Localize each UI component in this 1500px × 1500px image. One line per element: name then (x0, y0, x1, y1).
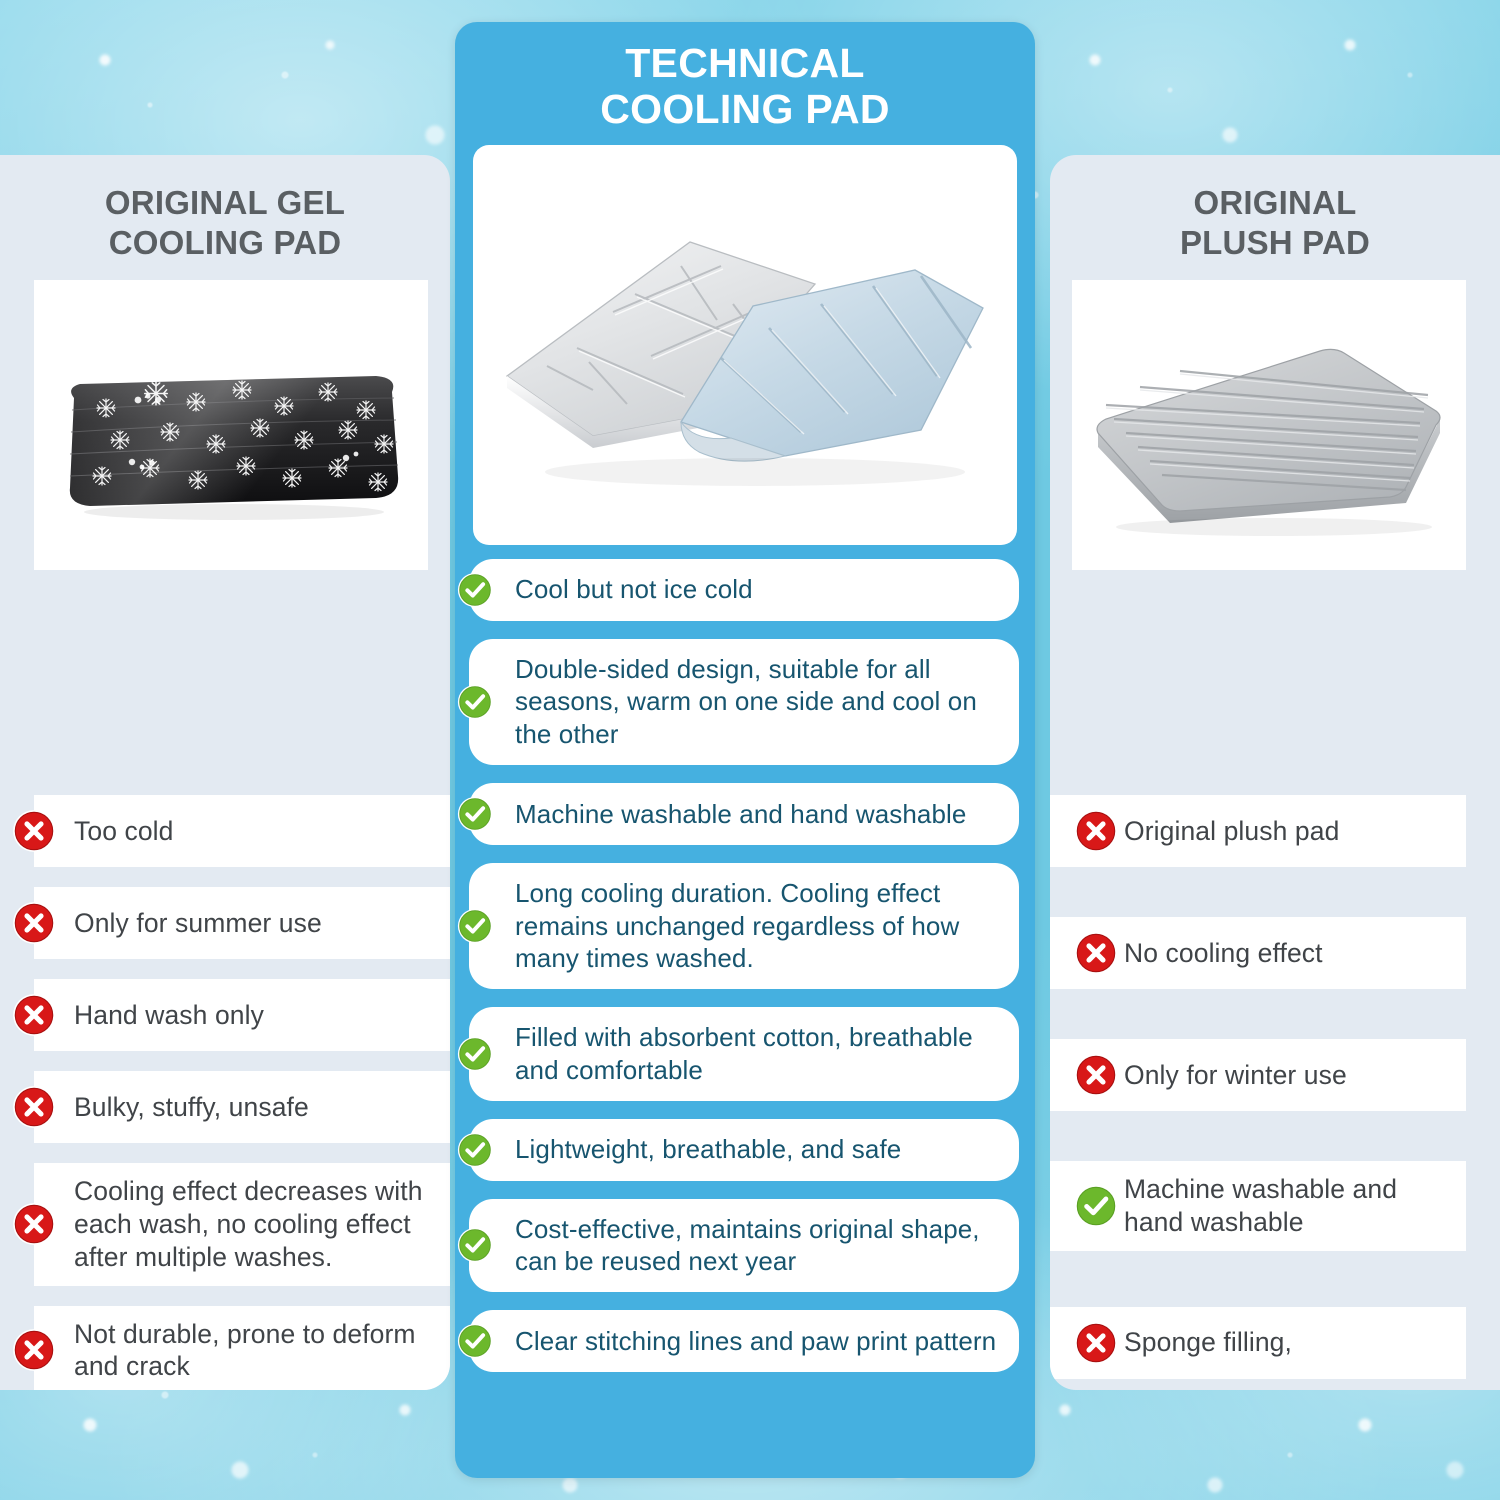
list-item[interactable]: Machine washable and hand washable (1050, 1161, 1466, 1251)
check-circle-icon (457, 1227, 493, 1263)
check-circle-icon (457, 1227, 493, 1263)
check-circle-icon (457, 908, 493, 944)
check-circle-icon (457, 796, 493, 832)
list-item-label: Cooling effect decreases with each wash,… (74, 1175, 432, 1274)
cross-circle-icon (12, 993, 56, 1037)
feature-item[interactable]: Cost-effective, maintains original shape… (469, 1199, 1019, 1293)
feature-label: Filled with absorbent cotton, breathable… (515, 1021, 999, 1087)
list-item[interactable]: Too cold (34, 795, 450, 867)
list-item[interactable]: No cooling effect (1050, 917, 1466, 989)
feature-item[interactable]: Cool but not ice cold (469, 559, 1019, 621)
list-item[interactable]: Bulky, stuffy, unsafe (34, 1071, 450, 1143)
cross-circle-icon (1074, 1053, 1118, 1097)
list-item[interactable]: Only for summer use (34, 887, 450, 959)
cross-circle-icon (1074, 931, 1118, 975)
list-item-label: Only for summer use (74, 907, 322, 940)
check-circle-icon (457, 1323, 493, 1359)
technical-cooling-pad-illustration (485, 180, 1005, 510)
list-item-label: Machine washable and hand washable (1124, 1173, 1448, 1239)
cross-circle-icon (12, 809, 56, 853)
cross-circle-icon (12, 1202, 56, 1246)
feature-label: Cool but not ice cold (515, 573, 753, 606)
left-panel-heading: ORIGINAL GEL COOLING PAD (0, 155, 450, 264)
row-divider (1050, 1111, 1500, 1161)
row-divider (0, 867, 450, 887)
cross-circle-icon (12, 1085, 56, 1129)
check-circle-icon (457, 1323, 493, 1359)
cross-circle-icon (12, 1328, 56, 1372)
check-circle-icon (457, 684, 493, 720)
check-circle-icon (457, 1036, 493, 1072)
right-comparison-panel: ORIGINAL PLUSH PAD (1050, 155, 1500, 1390)
row-divider (1050, 1379, 1500, 1390)
cross-circle-icon (12, 1085, 56, 1129)
cross-circle-icon (12, 901, 56, 945)
list-item-label: Hand wash only (74, 999, 264, 1032)
list-item-label: Not durable, prone to deform and crack (74, 1318, 432, 1384)
check-circle-icon (457, 1132, 493, 1168)
cross-circle-icon (1074, 1321, 1118, 1365)
check-circle-icon (457, 1036, 493, 1072)
cross-circle-icon (1074, 809, 1118, 853)
list-item-label: Sponge filling, (1124, 1326, 1292, 1359)
cross-circle-icon (1074, 1053, 1118, 1097)
row-divider (0, 959, 450, 979)
list-item-label: Only for winter use (1124, 1059, 1347, 1092)
left-comparison-panel: ORIGINAL GEL COOLING PAD (0, 155, 450, 1390)
list-item-label: Too cold (74, 815, 174, 848)
check-circle-icon (457, 796, 493, 832)
check-circle-icon (457, 684, 493, 720)
gel-cooling-pad-illustration (46, 336, 416, 536)
row-divider (0, 1286, 450, 1306)
plush-pad-illustration (1084, 315, 1454, 545)
feature-item[interactable]: Clear stitching lines and paw print patt… (469, 1310, 1019, 1372)
feature-item[interactable]: Long cooling duration. Cooling effect re… (469, 863, 1019, 989)
list-item-label: Bulky, stuffy, unsafe (74, 1091, 309, 1124)
list-item[interactable]: Not durable, prone to deform and crack (34, 1306, 450, 1390)
center-product-photo (473, 145, 1017, 545)
feature-label: Long cooling duration. Cooling effect re… (515, 877, 999, 975)
list-item-label: Original plush pad (1124, 815, 1339, 848)
right-product-photo (1072, 280, 1466, 570)
row-divider (1050, 867, 1500, 917)
check-circle-icon (457, 572, 493, 608)
list-item[interactable]: Cooling effect decreases with each wash,… (34, 1163, 450, 1286)
cross-circle-icon (12, 993, 56, 1037)
cross-circle-icon (1074, 809, 1118, 853)
feature-label: Machine washable and hand washable (515, 798, 967, 831)
row-divider (0, 1143, 450, 1163)
check-circle-icon (1074, 1184, 1118, 1228)
right-item-rows: Original plush pad No cooling effect Onl… (1050, 795, 1500, 1390)
list-item[interactable]: Hand wash only (34, 979, 450, 1051)
left-item-rows: Too cold Only for summer use Hand wash o… (0, 795, 450, 1390)
page-title: TECHNICAL COOLING PAD (455, 22, 1035, 133)
row-divider (1050, 989, 1500, 1039)
comparison-stage: ORIGINAL GEL COOLING PAD (0, 0, 1500, 1500)
left-product-photo (34, 280, 428, 570)
row-divider (0, 1051, 450, 1071)
check-circle-icon (1074, 1184, 1118, 1228)
feature-label: Cost-effective, maintains original shape… (515, 1213, 999, 1279)
check-circle-icon (457, 908, 493, 944)
check-circle-icon (457, 1132, 493, 1168)
list-item[interactable]: Only for winter use (1050, 1039, 1466, 1111)
cross-circle-icon (12, 1328, 56, 1372)
feature-label: Lightweight, breathable, and safe (515, 1133, 901, 1166)
feature-item[interactable]: Lightweight, breathable, and safe (469, 1119, 1019, 1181)
right-panel-heading: ORIGINAL PLUSH PAD (1050, 155, 1500, 264)
cross-circle-icon (1074, 1321, 1118, 1365)
center-highlight-panel: TECHNICAL COOLING PAD (455, 22, 1035, 1478)
cross-circle-icon (12, 809, 56, 853)
list-item[interactable]: Original plush pad (1050, 795, 1466, 867)
center-feature-list: Cool but not ice cold Double-sided desig… (469, 559, 1019, 1373)
list-item-label: No cooling effect (1124, 937, 1323, 970)
feature-label: Double-sided design, suitable for all se… (515, 653, 999, 751)
feature-label: Clear stitching lines and paw print patt… (515, 1325, 996, 1358)
feature-item[interactable]: Machine washable and hand washable (469, 783, 1019, 845)
cross-circle-icon (1074, 931, 1118, 975)
list-item[interactable]: Sponge filling, (1050, 1307, 1466, 1379)
feature-item[interactable]: Filled with absorbent cotton, breathable… (469, 1007, 1019, 1101)
cross-circle-icon (12, 1202, 56, 1246)
check-circle-icon (457, 572, 493, 608)
row-divider (1050, 1251, 1500, 1307)
cross-circle-icon (12, 901, 56, 945)
feature-item[interactable]: Double-sided design, suitable for all se… (469, 639, 1019, 765)
